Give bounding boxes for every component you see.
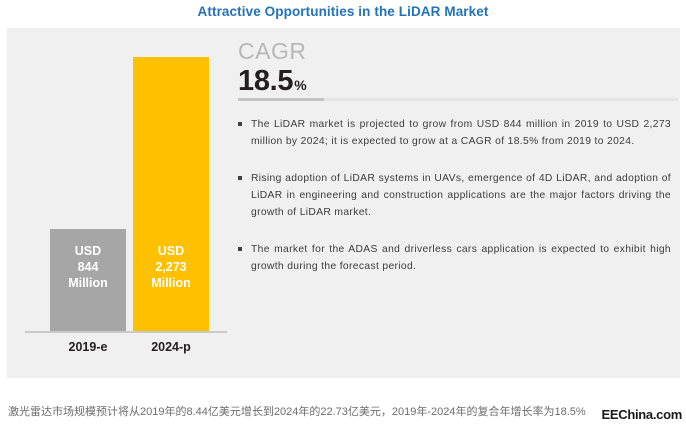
bar-2019: USD 844 Million (50, 229, 126, 331)
bullet-list: The LiDAR market is projected to grow fr… (238, 116, 680, 295)
square-bullet-icon (238, 247, 242, 251)
cagr-percent-symbol: % (294, 77, 306, 93)
bar-2019-value: 844 (68, 259, 108, 275)
cagr-block: CAGR 18.5 % (238, 38, 307, 97)
watermark: EEChina.com (602, 407, 683, 422)
caption-text: 激光雷达市场规模预计将从2019年的8.44亿美元增长到2024年的22.73亿… (8, 404, 678, 420)
list-item: The LiDAR market is projected to grow fr… (238, 116, 680, 150)
cagr-label: CAGR (238, 38, 307, 64)
bar-2019-label-group: USD 844 Million (68, 243, 108, 291)
bar-2024-value: 2,273 (151, 259, 191, 275)
bar-chart: USD 844 Million USD 2,273 Million 2019-e… (21, 28, 231, 378)
insights-panel: CAGR 18.5 % The LiDAR market is projecte… (232, 28, 680, 378)
cagr-divider (238, 98, 678, 101)
cagr-value: 18.5 (238, 65, 293, 97)
bar-2019-currency: USD (68, 243, 108, 259)
bullet-text-1: The LiDAR market is projected to grow fr… (251, 116, 671, 150)
infographic-panel: USD 844 Million USD 2,273 Million 2019-e… (7, 28, 680, 378)
bar-2024: USD 2,273 Million (133, 57, 209, 331)
square-bullet-icon (238, 122, 242, 126)
bullet-text-3: The market for the ADAS and driverless c… (251, 241, 671, 275)
list-item: The market for the ADAS and driverless c… (238, 241, 680, 275)
bar-2024-unit: Million (151, 275, 191, 291)
cagr-value-row: 18.5 % (238, 65, 307, 97)
axis-label-2024: 2024-p (133, 340, 209, 354)
bar-2024-label-group: USD 2,273 Million (151, 243, 191, 291)
chart-x-axis (25, 331, 227, 333)
chart-plot-area: USD 844 Million USD 2,273 Million (21, 28, 231, 331)
bullet-text-2: Rising adoption of LiDAR systems in UAVs… (251, 170, 671, 221)
list-item: Rising adoption of LiDAR systems in UAVs… (238, 170, 680, 221)
cagr-divider-fill (238, 98, 324, 101)
square-bullet-icon (238, 176, 242, 180)
axis-label-2019: 2019-e (50, 340, 126, 354)
page-title: Attractive Opportunities in the LiDAR Ma… (0, 4, 686, 19)
bar-2024-currency: USD (151, 243, 191, 259)
bar-2019-unit: Million (68, 275, 108, 291)
